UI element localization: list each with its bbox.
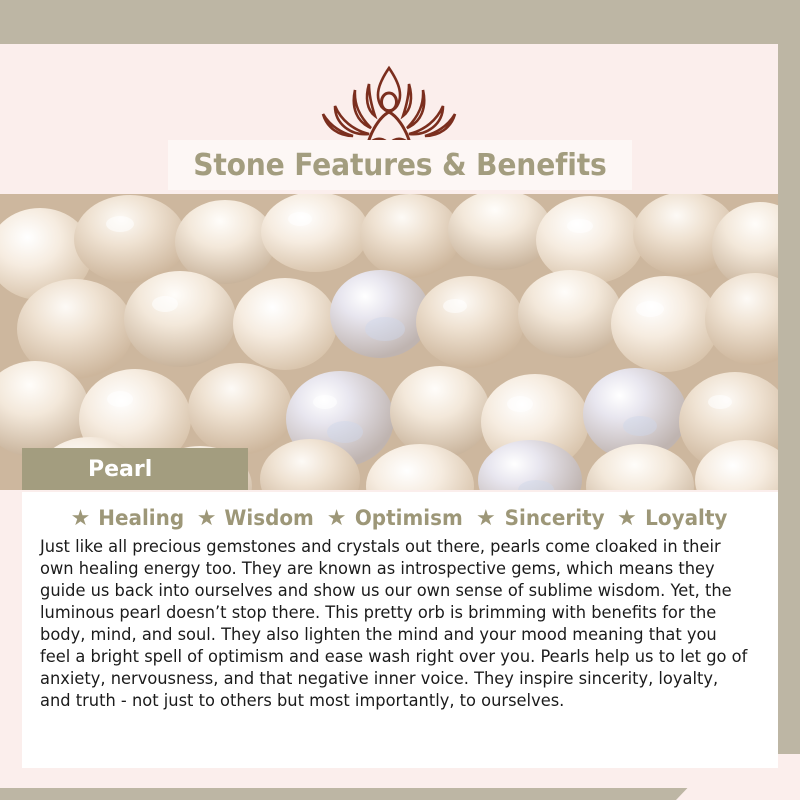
pearl-photo <box>0 194 778 490</box>
benefit-label: Healing <box>99 506 185 530</box>
description-text: Just like all precious gemstones and cry… <box>40 536 749 712</box>
content-card: ★ Healing ★ Wisdom ★ Optimism ★ Sincerit… <box>22 492 778 768</box>
photo-caption-bar: Pearl <box>22 448 248 490</box>
benefit-item: ★ Wisdom <box>197 506 317 530</box>
star-icon: ★ <box>327 507 347 529</box>
benefit-item: ★ Optimism <box>327 506 466 530</box>
star-icon: ★ <box>71 507 91 529</box>
title-banner: Stone Features & Benefits <box>168 140 632 190</box>
star-icon: ★ <box>617 507 637 529</box>
poster: BUDDHA STONES Stone Features & Benefits <box>0 0 800 800</box>
benefit-item: ★ Healing <box>71 506 187 530</box>
benefit-label: Loyalty <box>645 506 727 530</box>
benefit-label: Wisdom <box>225 506 314 530</box>
benefit-item: ★ Sincerity <box>476 506 607 530</box>
benefit-label: Sincerity <box>504 506 604 530</box>
page-title: Stone Features & Benefits <box>193 148 606 183</box>
benefits-list: ★ Healing ★ Wisdom ★ Optimism ★ Sincerit… <box>22 492 778 530</box>
star-icon: ★ <box>197 507 217 529</box>
benefit-item: ★ Loyalty <box>617 506 729 530</box>
star-icon: ★ <box>476 507 496 529</box>
right-frame-edge <box>778 0 800 800</box>
benefit-label: Optimism <box>355 506 463 530</box>
top-left-corner-notch <box>0 0 478 46</box>
stone-name: Pearl <box>22 457 152 482</box>
